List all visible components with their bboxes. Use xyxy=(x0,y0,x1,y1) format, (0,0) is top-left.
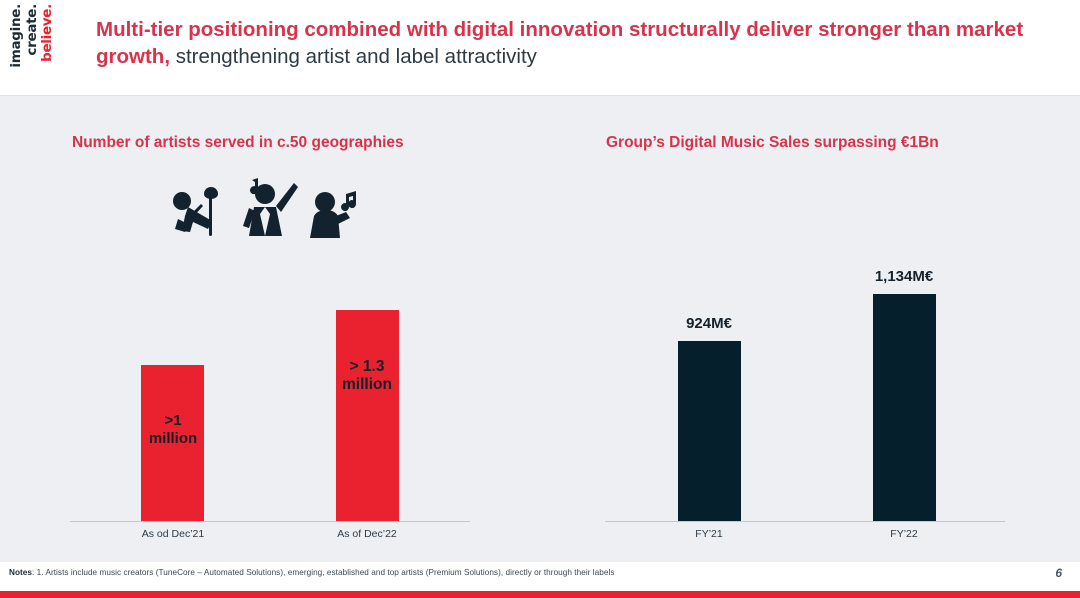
footnote: Notes: 1. Artists include music creators… xyxy=(9,568,615,577)
artists-tick-2022: As of Dec’22 xyxy=(311,528,423,540)
artists-bar-2022 xyxy=(336,310,399,521)
logo-word-imagine: imagine. xyxy=(10,4,24,68)
digital-sales-bar-fy21 xyxy=(678,341,741,521)
slide-title: Multi-tier positioning combined with dig… xyxy=(96,16,1056,71)
artists-bar-2021-value-line1: >1 xyxy=(164,412,181,429)
footer-accent-bar xyxy=(0,591,1080,598)
panel-artists-heading: Number of artists served in c.50 geograp… xyxy=(72,134,404,152)
digital-sales-axis-line xyxy=(605,521,1005,522)
brand-logo: imagine. create. believe. xyxy=(10,4,72,94)
slide-header: imagine. create. believe. Multi-tier pos… xyxy=(0,0,1080,96)
panel-artists: Number of artists served in c.50 geograp… xyxy=(0,96,540,562)
digital-sales-bar-fy22 xyxy=(873,294,936,521)
artists-axis-line xyxy=(70,521,470,522)
artists-bar-2022-value-line2: million xyxy=(342,376,392,393)
slide-title-rest: strengthening artist and label attractiv… xyxy=(170,45,537,68)
panel-digital-sales: Group’s Digital Music Sales surpassing €… xyxy=(540,96,1080,562)
artists-tick-2021: As od Dec’21 xyxy=(117,528,229,540)
footnote-text: : 1. Artists include music creators (Tun… xyxy=(32,568,615,577)
performer-with-microphone-icon xyxy=(168,180,230,238)
artists-bar-2022-value-line1: > 1.3 xyxy=(350,358,385,375)
artists-bar-2021-value-line2: million xyxy=(149,430,197,447)
artists-bar-2021-value: >1 million xyxy=(117,412,229,447)
slide-body: Number of artists served in c.50 geograp… xyxy=(0,96,1080,562)
logo-word-create: create. xyxy=(26,4,40,56)
conductor-icon xyxy=(236,176,300,238)
digital-sales-bar-fy22-value: 1,134M€ xyxy=(848,268,960,286)
artists-bar-2022-value: > 1.3 million xyxy=(311,358,423,395)
artist-icon-group xyxy=(168,176,362,238)
logo-word-believe: believe. xyxy=(41,4,55,62)
singer-with-notes-icon xyxy=(306,182,362,238)
page-number: 6 xyxy=(1055,566,1062,580)
footnote-label: Notes xyxy=(9,568,32,577)
digital-sales-tick-fy22: FY’22 xyxy=(848,528,960,540)
digital-sales-bar-fy21-value: 924M€ xyxy=(653,315,765,333)
slide-footer: Notes: 1. Artists include music creators… xyxy=(0,562,1080,598)
digital-sales-tick-fy21: FY’21 xyxy=(653,528,765,540)
panel-digital-sales-heading: Group’s Digital Music Sales surpassing €… xyxy=(606,134,939,152)
